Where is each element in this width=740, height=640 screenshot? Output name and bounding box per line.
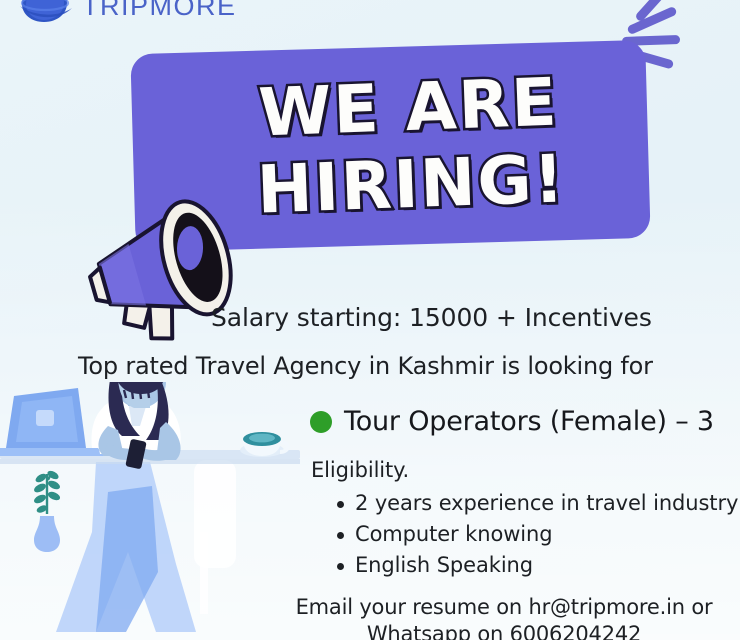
woman-at-laptop-illustration (0, 382, 320, 640)
role-label: Tour Operators (Female) – 3 (344, 406, 714, 437)
list-item: Computer knowing (355, 519, 738, 550)
list-item: English Speaking (355, 550, 738, 581)
agency-line: Top rated Travel Agency in Kashmir is lo… (78, 352, 653, 380)
hiring-poster: TRIPMORE WE ARE HIRING! (0, 0, 740, 640)
eligibility-title: Eligibility. (311, 458, 409, 482)
contact-block: Email your resume on hr@tripmore.in or W… (289, 594, 719, 640)
contact-whatsapp-line: Whatsapp on 6006204242 (289, 621, 719, 640)
brand-logo: TRIPMORE (16, 0, 237, 32)
list-item: 2 years experience in travel industry (355, 488, 738, 519)
globe-swoosh-icon (16, 0, 74, 32)
brand-wordmark: TRIPMORE (82, 0, 237, 22)
role-row: Tour Operators (Female) – 3 (310, 406, 714, 437)
eligibility-list: 2 years experience in travel industry Co… (333, 488, 738, 581)
contact-email-line: Email your resume on hr@tripmore.in or (289, 594, 719, 621)
salary-line: Salary starting: 15000 + Incentives (211, 303, 652, 332)
